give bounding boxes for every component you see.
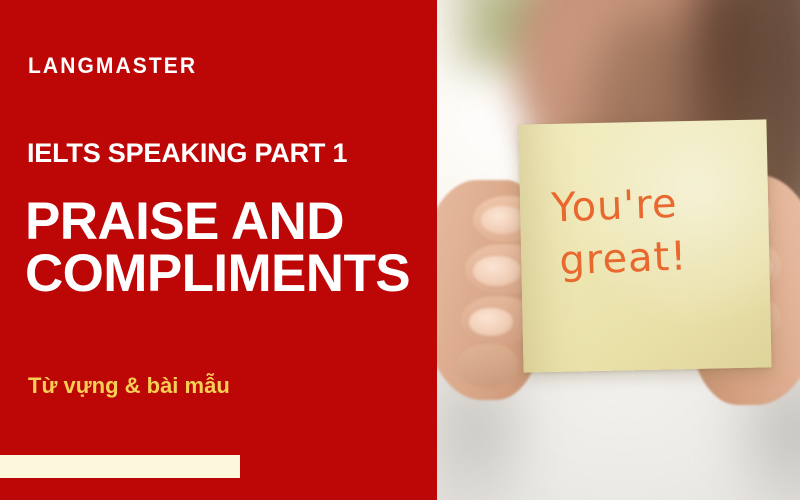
headline-line-1: PRAISE AND <box>25 192 344 251</box>
left-fingernail-1 <box>481 206 525 234</box>
sticky-note-text: You're great! <box>516 117 773 374</box>
thumbnail-canvas: LANGMASTER IELTS SPEAKING PART 1 PRAISE … <box>0 0 800 500</box>
course-subtitle: IELTS SPEAKING PART 1 <box>27 140 347 167</box>
sticky-note: You're great! <box>518 119 771 372</box>
page-title: PRAISE AND COMPLIMENTS <box>25 196 410 301</box>
headline-line-2: COMPLIMENTS <box>25 248 410 300</box>
accent-bar <box>0 455 240 478</box>
langmaster-logo: LANGMASTER <box>28 55 197 77</box>
sticky-note-line-2: great! <box>559 228 771 287</box>
photo-panel: You're great! <box>437 0 800 500</box>
left-fingernail-3 <box>469 308 513 336</box>
sticky-note-line-1: You're <box>551 181 679 232</box>
left-red-panel: LANGMASTER IELTS SPEAKING PART 1 PRAISE … <box>0 0 437 500</box>
left-finger-4 <box>457 344 517 388</box>
left-fingernail-2 <box>473 256 521 286</box>
tagline: Từ vựng & bài mẫu <box>28 375 230 397</box>
